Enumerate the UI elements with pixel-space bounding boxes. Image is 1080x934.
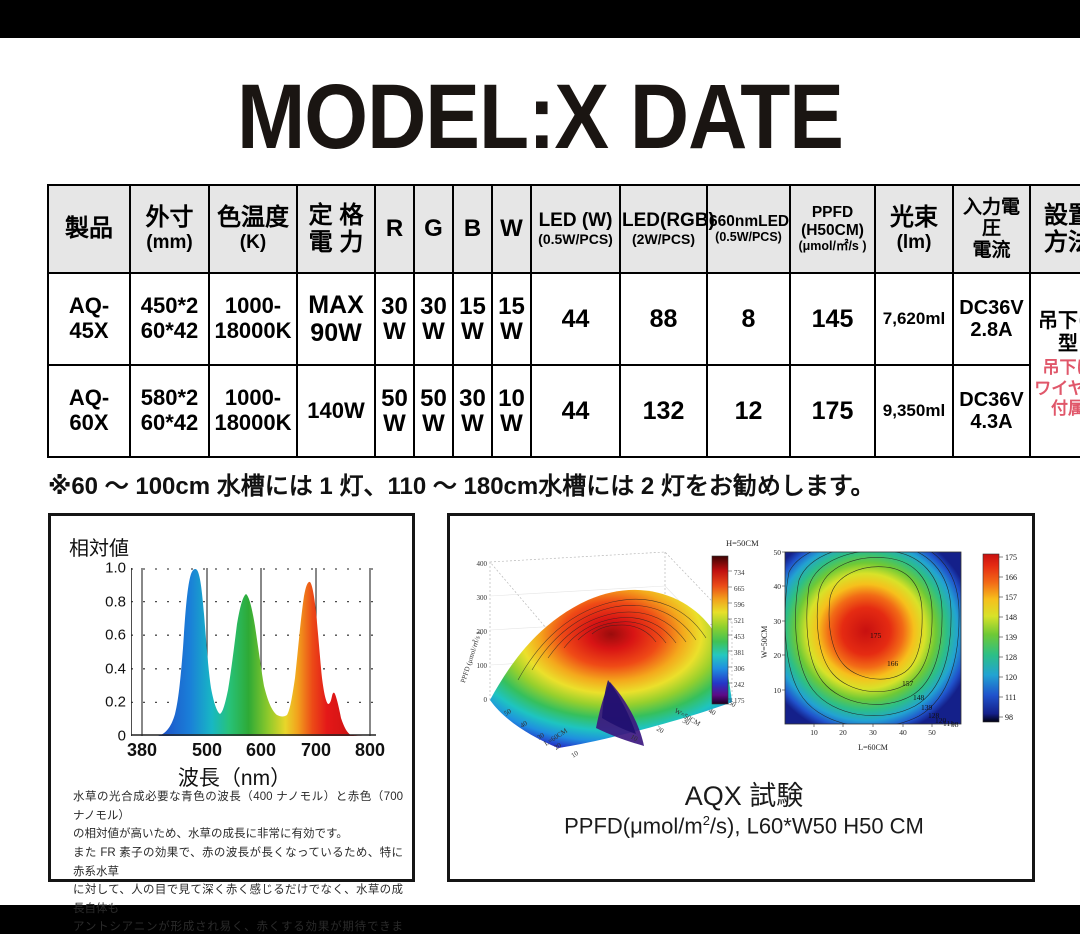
svg-text:175: 175	[734, 697, 745, 705]
cell-b: 30W	[453, 365, 492, 457]
svg-text:120: 120	[1005, 673, 1017, 682]
cell-cct: 1000-18000K	[209, 273, 297, 365]
caption-line: に対して、人の目で見て深く赤く感じるだけでなく、水草の成長自体も	[73, 881, 403, 918]
spec-table-wrap: 製品 外寸 (mm) 色温度 (K) 定 格 電 力 R	[47, 184, 1035, 458]
spectrum-ytick: 0	[118, 728, 126, 745]
cell-led-rgb: 88	[620, 273, 707, 365]
svg-text:157: 157	[1005, 593, 1017, 602]
cell-luminous-flux: 9,350ml	[875, 365, 953, 457]
cell-ppfd: 145	[790, 273, 875, 365]
aqx-test-panel: 0 100 200 300 400 PPFD (μmol/㎡/s ) 50 40…	[447, 513, 1035, 882]
cell-product: AQ-45X	[48, 273, 130, 365]
table-row: AQ-45X 450*260*42 1000-18000K MAX90W 30W…	[48, 273, 1080, 365]
cell-cct: 1000-18000K	[209, 365, 297, 457]
col-header-dimension: 外寸 (mm)	[130, 185, 209, 273]
cell-w: 10W	[492, 365, 531, 457]
svg-text:157: 157	[902, 679, 914, 688]
cell-ppfd: 175	[790, 365, 875, 457]
svg-text:30: 30	[774, 617, 782, 626]
cell-led-w: 44	[531, 365, 620, 457]
cell-voltage: DC36V2.8A	[953, 273, 1030, 365]
col-header-r: R	[375, 185, 414, 273]
col-header-g: G	[414, 185, 453, 273]
spectrum-panel: 相対値 1.0 0.8 0.6 0.4 0.2 0	[48, 513, 415, 882]
svg-text:10: 10	[810, 728, 818, 737]
svg-text:175: 175	[870, 631, 882, 640]
surface-z-label: PPFD (μmol/㎡/s )	[460, 630, 483, 684]
spec-table: 製品 外寸 (mm) 色温度 (K) 定 格 電 力 R	[47, 184, 1080, 458]
svg-text:596: 596	[734, 601, 745, 609]
col-header-led-660: 660nmLED (0.5W/PCS)	[707, 185, 790, 273]
spectrum-caption: 水草の光合成必要な青色の波長（400 ナノモル）と赤色（700 ナノモル） の相…	[73, 788, 403, 934]
caption-line: 水草の光合成必要な青色の波長（400 ナノモル）と赤色（700 ナノモル）	[73, 788, 403, 825]
cell-led-rgb: 132	[620, 365, 707, 457]
spectrum-svg	[131, 568, 376, 736]
cell-power: MAX90W	[297, 273, 375, 365]
col-header-power: 定 格 電 力	[297, 185, 375, 273]
svg-text:521: 521	[734, 617, 745, 625]
mounting-type-label: 吊下げ型	[1032, 310, 1080, 356]
col-header-led-w: LED (W) (0.5W/PCS)	[531, 185, 620, 273]
spectrum-xtick: 500	[192, 740, 222, 761]
svg-text:20: 20	[774, 651, 782, 660]
spectrum-plot: 1.0 0.8 0.6 0.4 0.2 0	[131, 568, 376, 736]
spectrum-ytick: 1.0	[105, 560, 126, 577]
svg-text:20: 20	[655, 725, 665, 736]
aqx-sub-sup: 2	[703, 813, 710, 828]
cell-g: 30W	[414, 273, 453, 365]
svg-text:10: 10	[570, 749, 581, 760]
spectrum-y-axis-title: 相対値	[69, 532, 129, 561]
spectrum-xtick: 600	[246, 740, 276, 761]
svg-text:128: 128	[1005, 653, 1017, 662]
svg-text:20: 20	[839, 728, 847, 737]
svg-text:148: 148	[1005, 613, 1017, 622]
svg-text:453: 453	[734, 633, 745, 641]
svg-text:300: 300	[477, 594, 488, 602]
svg-text:50: 50	[928, 728, 936, 737]
spectrum-xtick: 380	[127, 740, 157, 761]
svg-text:40: 40	[774, 582, 782, 591]
svg-text:139: 139	[1005, 633, 1017, 642]
caption-line: また FR 素子の効果で、赤の波長が長くなっているため、特に赤系水草	[73, 844, 403, 881]
svg-text:166: 166	[887, 659, 899, 668]
svg-text:50: 50	[774, 548, 782, 557]
spectrum-xtick: 700	[301, 740, 331, 761]
cell-voltage: DC36V4.3A	[953, 365, 1030, 457]
aqx-sub-pre: PPFD(μmol/m	[564, 813, 703, 838]
page-title: MODEL:X DATE	[0, 72, 1080, 164]
svg-text:98: 98	[1005, 713, 1013, 722]
svg-text:111: 111	[1005, 693, 1016, 702]
svg-text:306: 306	[734, 665, 745, 673]
contour-x-label: L=60CM	[858, 743, 888, 752]
aqx-sub-post: /s), L60*W50 H50 CM	[710, 813, 924, 838]
spectrum-ytick: 0.4	[105, 660, 126, 677]
col-header-ppfd: PPFD (H50CM) (μmol/㎡/s )	[790, 185, 875, 273]
cell-led-660: 12	[707, 365, 790, 457]
cell-mounting: 吊下げ型 吊下げワイヤー付属	[1030, 273, 1080, 457]
contour-y-label: W=50CM	[760, 626, 769, 659]
col-header-cct: 色温度 (K)	[209, 185, 297, 273]
ppfd-surface-plot: 0 100 200 300 400 PPFD (μmol/㎡/s ) 50 40…	[460, 530, 760, 760]
cell-r: 50W	[375, 365, 414, 457]
caption-line: アントシアニンが形成され易く、赤くする効果が期待できます。	[73, 918, 403, 934]
cell-b: 15W	[453, 273, 492, 365]
svg-text:0: 0	[484, 696, 488, 704]
cell-g: 50W	[414, 365, 453, 457]
svg-text:175: 175	[1005, 553, 1017, 562]
cell-r: 30W	[375, 273, 414, 365]
col-header-b: B	[453, 185, 492, 273]
cell-product: AQ-60X	[48, 365, 130, 457]
svg-text:242: 242	[734, 681, 745, 689]
tank-recommendation-note: ※60 〜 100cm 水槽には 1 灯、110 〜 180cm水槽には 2 灯…	[48, 466, 875, 501]
aqx-test-title: AQX 試験	[450, 774, 1038, 813]
spectrum-ytick: 0.2	[105, 694, 126, 711]
caption-line: の相対値が高いため、水草の成長に非常に有効です。	[73, 825, 403, 844]
col-header-mounting: 設置 方法	[1030, 185, 1080, 273]
svg-text:166: 166	[1005, 573, 1017, 582]
svg-text:40: 40	[899, 728, 907, 737]
cell-luminous-flux: 7,620ml	[875, 273, 953, 365]
svg-text:400: 400	[477, 560, 488, 568]
spectrum-ytick: 0.8	[105, 593, 126, 610]
svg-text:10: 10	[774, 686, 782, 695]
spectrum-xtick: 800	[355, 740, 385, 761]
col-header-voltage: 入力電圧 電流	[953, 185, 1030, 273]
col-header-led-rgb: LED(RGB) (2W/PCS)	[620, 185, 707, 273]
mounting-wire-label: 吊下げワイヤー付属	[1032, 358, 1080, 419]
cell-power: 140W	[297, 365, 375, 457]
svg-text:665: 665	[734, 585, 745, 593]
svg-text:148: 148	[913, 693, 925, 702]
col-header-w: W	[492, 185, 531, 273]
ppfd-contour-plot: 175 166 157 148 139 128 120 111 98 50 40…	[755, 538, 1033, 756]
spectrum-ytick: 0.6	[105, 627, 126, 644]
svg-text:100: 100	[477, 662, 488, 670]
poster-root: MODEL:X DATE 製品 外寸 (mm)	[0, 0, 1080, 934]
svg-text:30: 30	[869, 728, 877, 737]
table-row: AQ-60X 580*260*42 1000-18000K 140W 50W 5…	[48, 365, 1080, 457]
table-header-row: 製品 外寸 (mm) 色温度 (K) 定 格 電 力 R	[48, 185, 1080, 273]
cell-led-w: 44	[531, 273, 620, 365]
col-header-luminous-flux: 光束 (lm)	[875, 185, 953, 273]
aqx-test-subtitle: PPFD(μmol/m2/s), L60*W50 H50 CM	[450, 813, 1038, 839]
cell-w: 15W	[492, 273, 531, 365]
cell-dimension: 450*260*42	[130, 273, 209, 365]
cell-dimension: 580*260*42	[130, 365, 209, 457]
svg-text:734: 734	[734, 569, 745, 577]
cell-led-660: 8	[707, 273, 790, 365]
letterbox-top	[0, 0, 1080, 38]
svg-text:98: 98	[951, 720, 959, 729]
col-header-product: 製品	[48, 185, 130, 273]
svg-text:381: 381	[734, 649, 745, 657]
